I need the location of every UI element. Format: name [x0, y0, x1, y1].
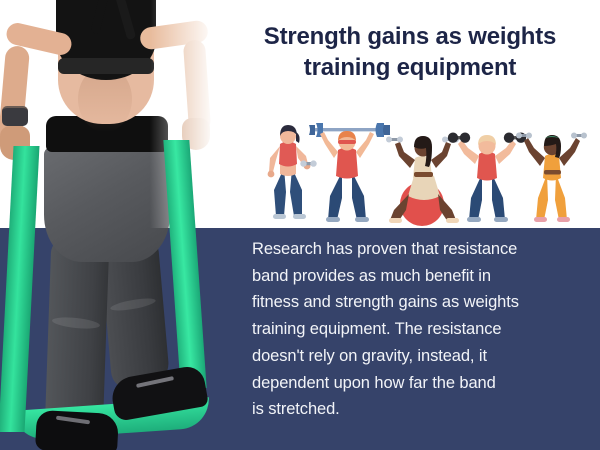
figure-shoulder-press-dumbbells [448, 133, 526, 223]
body-line: Research has proven that resistance [252, 236, 586, 263]
figure-woman-exercise-ball [386, 136, 459, 226]
figure-man-overhead-barbell-press [309, 123, 390, 222]
fitness-watch-icon [2, 106, 28, 126]
hero-photo [0, 0, 232, 450]
banner-title: Strength gains as weights training equip… [232, 22, 588, 83]
body-line: dependent upon how far the band [252, 370, 586, 397]
banner-title-line-1: Strength gains as weights [232, 22, 588, 53]
banner-title-line-2: training equipment [232, 53, 588, 84]
body-line: doesn't rely on gravity, instead, it [252, 343, 586, 370]
body-line: fitness and strength gains as weights [252, 289, 586, 316]
figure-woman-dumbbell-curl [268, 125, 317, 219]
shoe-left [35, 410, 119, 450]
body-line: training equipment. The resistance [252, 316, 586, 343]
body-line: band provides as much benefit in [252, 263, 586, 290]
exercise-figures-illustration [262, 116, 592, 228]
body-paragraph: Research has proven that resistance band… [252, 236, 586, 423]
figure-arms-raised-dumbbells [516, 133, 587, 223]
promo-banner: Strength gains as weights training equip… [0, 0, 600, 450]
body-line: is stretched. [252, 396, 586, 423]
sports-bra-band [58, 58, 154, 74]
